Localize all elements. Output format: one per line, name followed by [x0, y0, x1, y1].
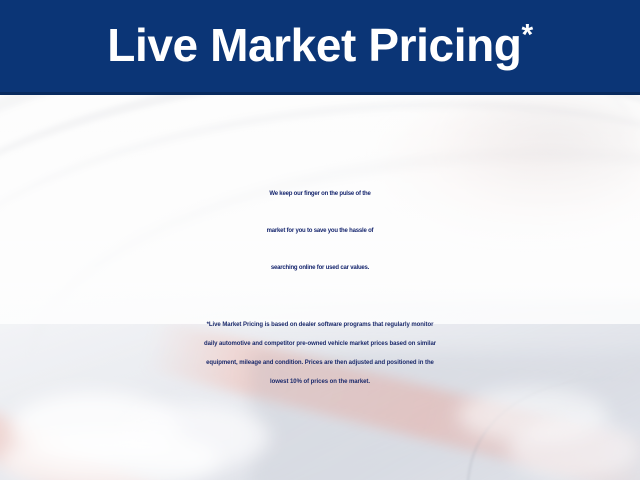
title-band: Live Market Pricing*: [0, 0, 640, 92]
headline-line-2: market for you to save you the hassle of: [0, 213, 640, 250]
disclaimer-line-1: *Live Market Pricing is based on dealer …: [0, 316, 640, 335]
disclaimer-line-4: lowest 10% of prices on the market.: [0, 373, 640, 392]
headline-line-1: We keep our finger on the pulse of the: [0, 176, 640, 213]
page-title-text: Live Market Pricing: [107, 19, 521, 71]
disclaimer-line-2: daily automotive and competitor pre-owne…: [0, 335, 640, 354]
disclaimer-text: *Live Market Pricing is based on dealer …: [0, 316, 640, 392]
headline-line-3: searching online for used car values.: [0, 250, 640, 287]
title-band-bottom-edge: [0, 92, 640, 95]
page-title: Live Market Pricing*: [107, 22, 533, 70]
headline: We keep our finger on the pulse of the m…: [0, 176, 640, 287]
footnote-asterisk: *: [521, 19, 532, 52]
disclaimer-line-3: equipment, mileage and condition. Prices…: [0, 354, 640, 373]
live-market-pricing-banner: Live Market Pricing* We keep our finger …: [0, 0, 640, 480]
